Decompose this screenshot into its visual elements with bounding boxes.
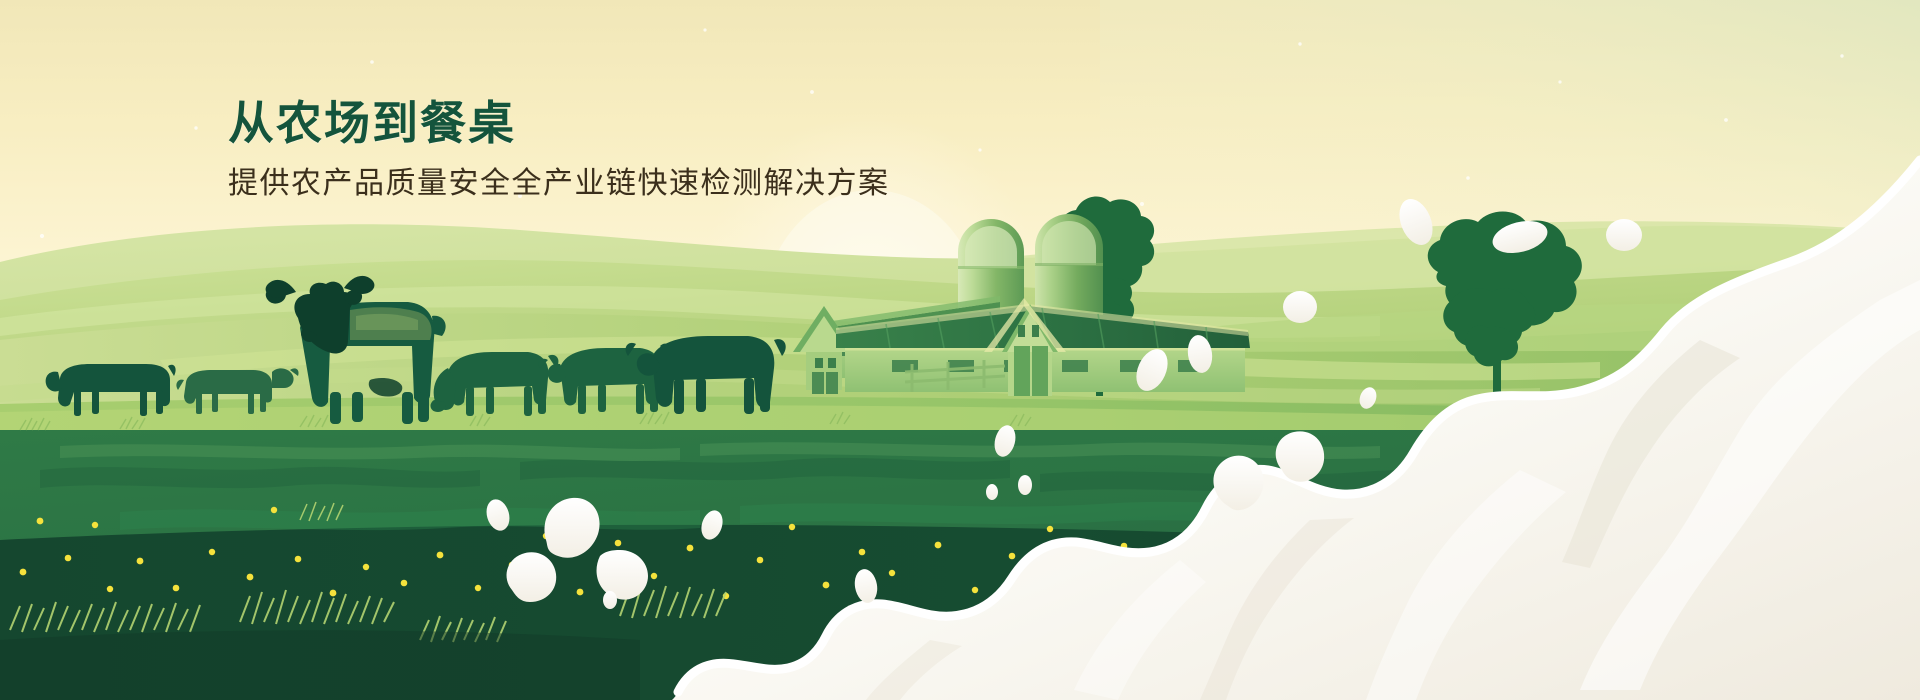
farm-to-table-hero-banner: 从农场到餐桌 提供农产品质量安全全产业链快速检测解决方案: [0, 0, 1920, 700]
milk-droplet-4: [1283, 291, 1317, 323]
scene-illustration: [0, 0, 1920, 700]
milk-droplet-3: [1606, 219, 1642, 251]
milk-droplet-12: [603, 591, 617, 609]
milk-droplet-9: [986, 484, 998, 500]
milk-droplet-8: [1018, 475, 1032, 495]
foreground-shadow: [0, 630, 640, 700]
cow-7-grazing: [556, 390, 634, 416]
